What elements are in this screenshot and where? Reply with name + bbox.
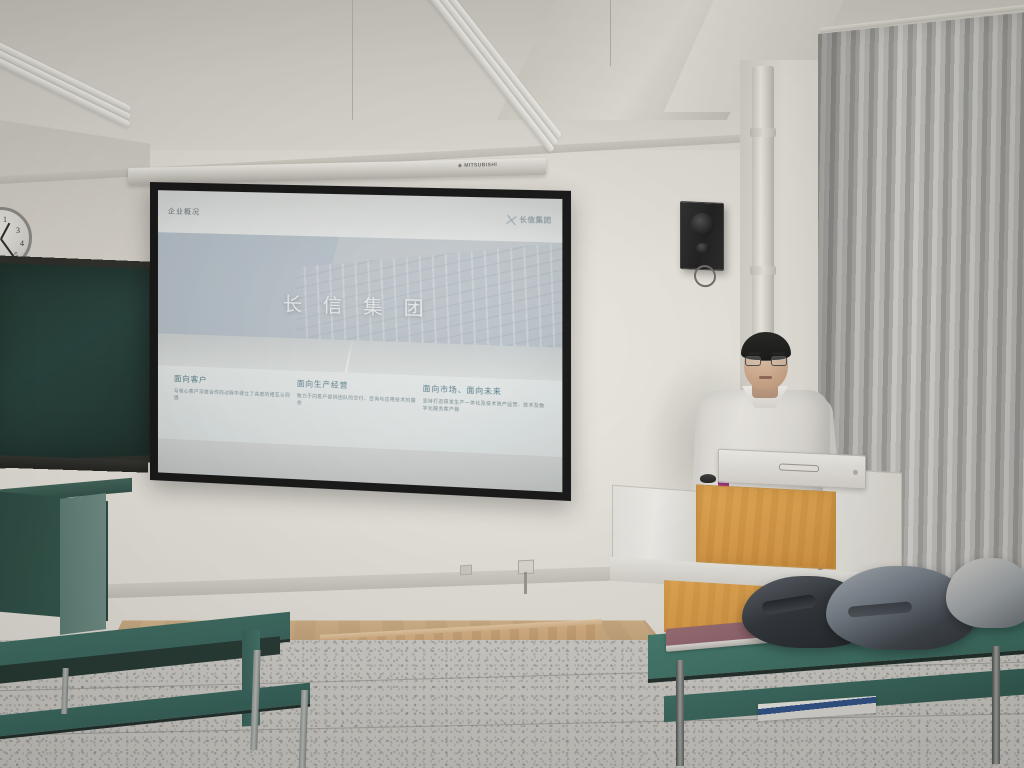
projection-screen: 企业概况 长信集团 长 信 集 团 面向客户 与核心客户深度合作的过程中建立了高… xyxy=(150,182,571,501)
company-logo: 长信集团 xyxy=(507,214,552,225)
eyeglasses-icon xyxy=(745,356,787,366)
column-body: 致力于向客户提供团队的交付、咨询与应用技术的服务 xyxy=(297,393,417,412)
slide-title: 长 信 集 团 xyxy=(158,233,562,381)
blackboard xyxy=(0,255,158,470)
column-heading: 面向客户 xyxy=(174,373,291,389)
slide-kicker-text: 企业概况 xyxy=(168,207,200,218)
presenter-eyebrow xyxy=(772,352,785,355)
lectern-side-panel xyxy=(60,493,106,635)
clock-numeral: 1 xyxy=(3,215,7,224)
slide-column: 面向客户 与核心客户深度合作的过程中建立了高度的相互认同感 xyxy=(174,373,291,445)
wall-speaker xyxy=(680,201,724,271)
column-heading: 面向市场、面向未来 xyxy=(423,383,545,399)
presenter-mouth xyxy=(759,376,772,379)
clock-hour-hand xyxy=(0,223,10,240)
clock-numeral: 3 xyxy=(16,226,20,235)
logo-text: 长信集团 xyxy=(519,215,551,226)
computer-mouse[interactable] xyxy=(700,474,716,483)
monitor-handle[interactable] xyxy=(779,463,819,472)
desk-leg xyxy=(992,646,1000,764)
projector-brand-label: ◈MITSUBISHI xyxy=(458,162,497,169)
brand-mark-icon: ◈ xyxy=(458,163,462,169)
slide-column: 面向市场、面向未来 坚持打造研发生产一体化及技术资产运营、技术及数字化服务客户群 xyxy=(423,383,545,457)
classroom-photo-scene: 1 2 3 4 5 6 ◈MITSUBISHI 企业概况 长信集团 xyxy=(0,0,1024,768)
clock-numeral: 4 xyxy=(20,239,24,248)
slide-column: 面向生产经营 致力于向客户提供团队的交付、咨询与应用技术的服务 xyxy=(297,378,417,451)
column-body: 坚持打造研发生产一体化及技术资产运营、技术及数字化服务客户群 xyxy=(423,398,545,418)
speaker-tweeter-icon xyxy=(696,243,710,254)
console-wood-panel xyxy=(696,484,836,569)
speaker-mount-bracket xyxy=(694,265,716,288)
column-body: 与核心客户深度合作的过程中建立了高度的相互认同感 xyxy=(174,388,291,407)
pipe-collar xyxy=(750,128,776,137)
socket-cable xyxy=(524,572,527,594)
presentation-slide: 企业概况 长信集团 长 信 集 团 面向客户 与核心客户深度合作的过程中建立了高… xyxy=(158,190,562,492)
pipe-collar xyxy=(750,266,776,275)
wall-socket[interactable] xyxy=(460,565,472,576)
white-jacket[interactable] xyxy=(946,558,1024,628)
logo-diamond-icon xyxy=(506,214,517,225)
console-monitor-lid[interactable] xyxy=(718,449,866,490)
column-heading: 面向生产经营 xyxy=(297,378,417,394)
presenter-eyebrow xyxy=(748,352,761,355)
monitor-lock-icon xyxy=(853,470,858,475)
speaker-woofer-icon xyxy=(691,213,714,237)
desk-leg xyxy=(676,660,684,766)
